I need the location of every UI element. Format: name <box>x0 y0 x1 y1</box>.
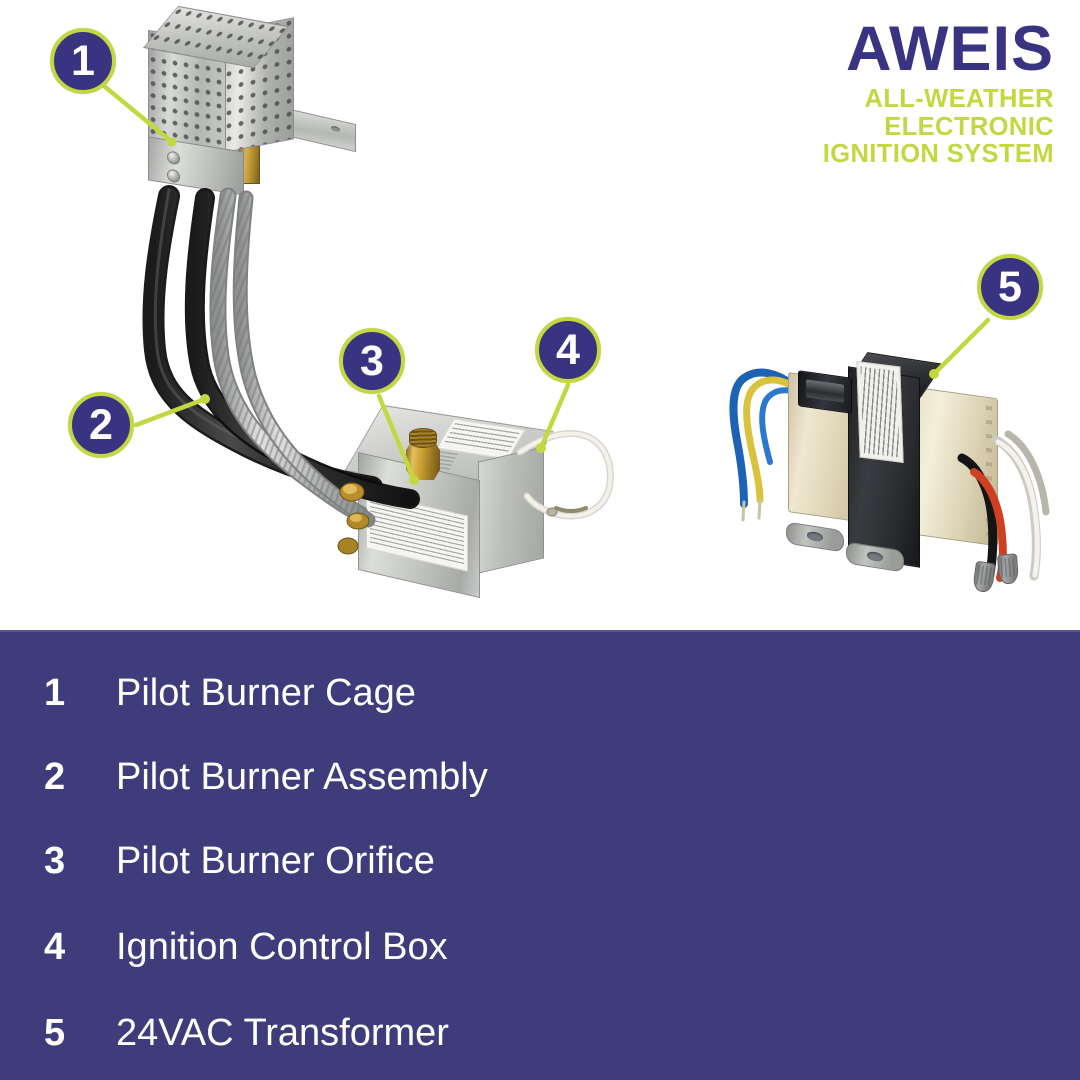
legend-item-5: 5 24VAC Transformer <box>44 1004 1034 1062</box>
legend-label-4: Ignition Control Box <box>116 928 448 966</box>
legend-item-3: 3 Pilot Burner Orifice <box>44 832 1034 890</box>
callout-badge-4[interactable]: 4 <box>535 317 601 383</box>
legend-number-3: 3 <box>44 842 116 880</box>
callout-badge-1[interactable]: 1 <box>50 28 116 94</box>
callout-badge-2[interactable]: 2 <box>68 392 134 458</box>
legend-label-2: Pilot Burner Assembly <box>116 758 488 796</box>
legend-panel: 1 Pilot Burner Cage 2 Pilot Burner Assem… <box>0 630 1080 1080</box>
product-diagram-page: AWEIS ALL-WEATHER ELECTRONIC IGNITION SY… <box>0 0 1080 1080</box>
legend-item-1: 1 Pilot Burner Cage <box>44 664 1034 722</box>
legend-number-4: 4 <box>44 928 116 966</box>
callout-badge-5[interactable]: 5 <box>977 254 1043 320</box>
legend-label-5: 24VAC Transformer <box>116 1014 449 1052</box>
legend-item-4: 4 Ignition Control Box <box>44 918 1034 976</box>
legend-label-1: Pilot Burner Cage <box>116 674 416 712</box>
legend-label-3: Pilot Burner Orifice <box>116 842 435 880</box>
legend-number-1: 1 <box>44 674 116 712</box>
pilot-burner-assembly-art <box>0 0 1080 630</box>
legend-number-2: 2 <box>44 758 116 796</box>
legend-number-5: 5 <box>44 1014 116 1052</box>
legend-item-2: 2 Pilot Burner Assembly <box>44 748 1034 806</box>
orifice-threaded-top <box>409 428 437 448</box>
pilot-burner-orifice-art <box>406 428 440 482</box>
callout-badge-3[interactable]: 3 <box>339 328 405 394</box>
illustration-area: AWEIS ALL-WEATHER ELECTRONIC IGNITION SY… <box>0 0 1080 630</box>
